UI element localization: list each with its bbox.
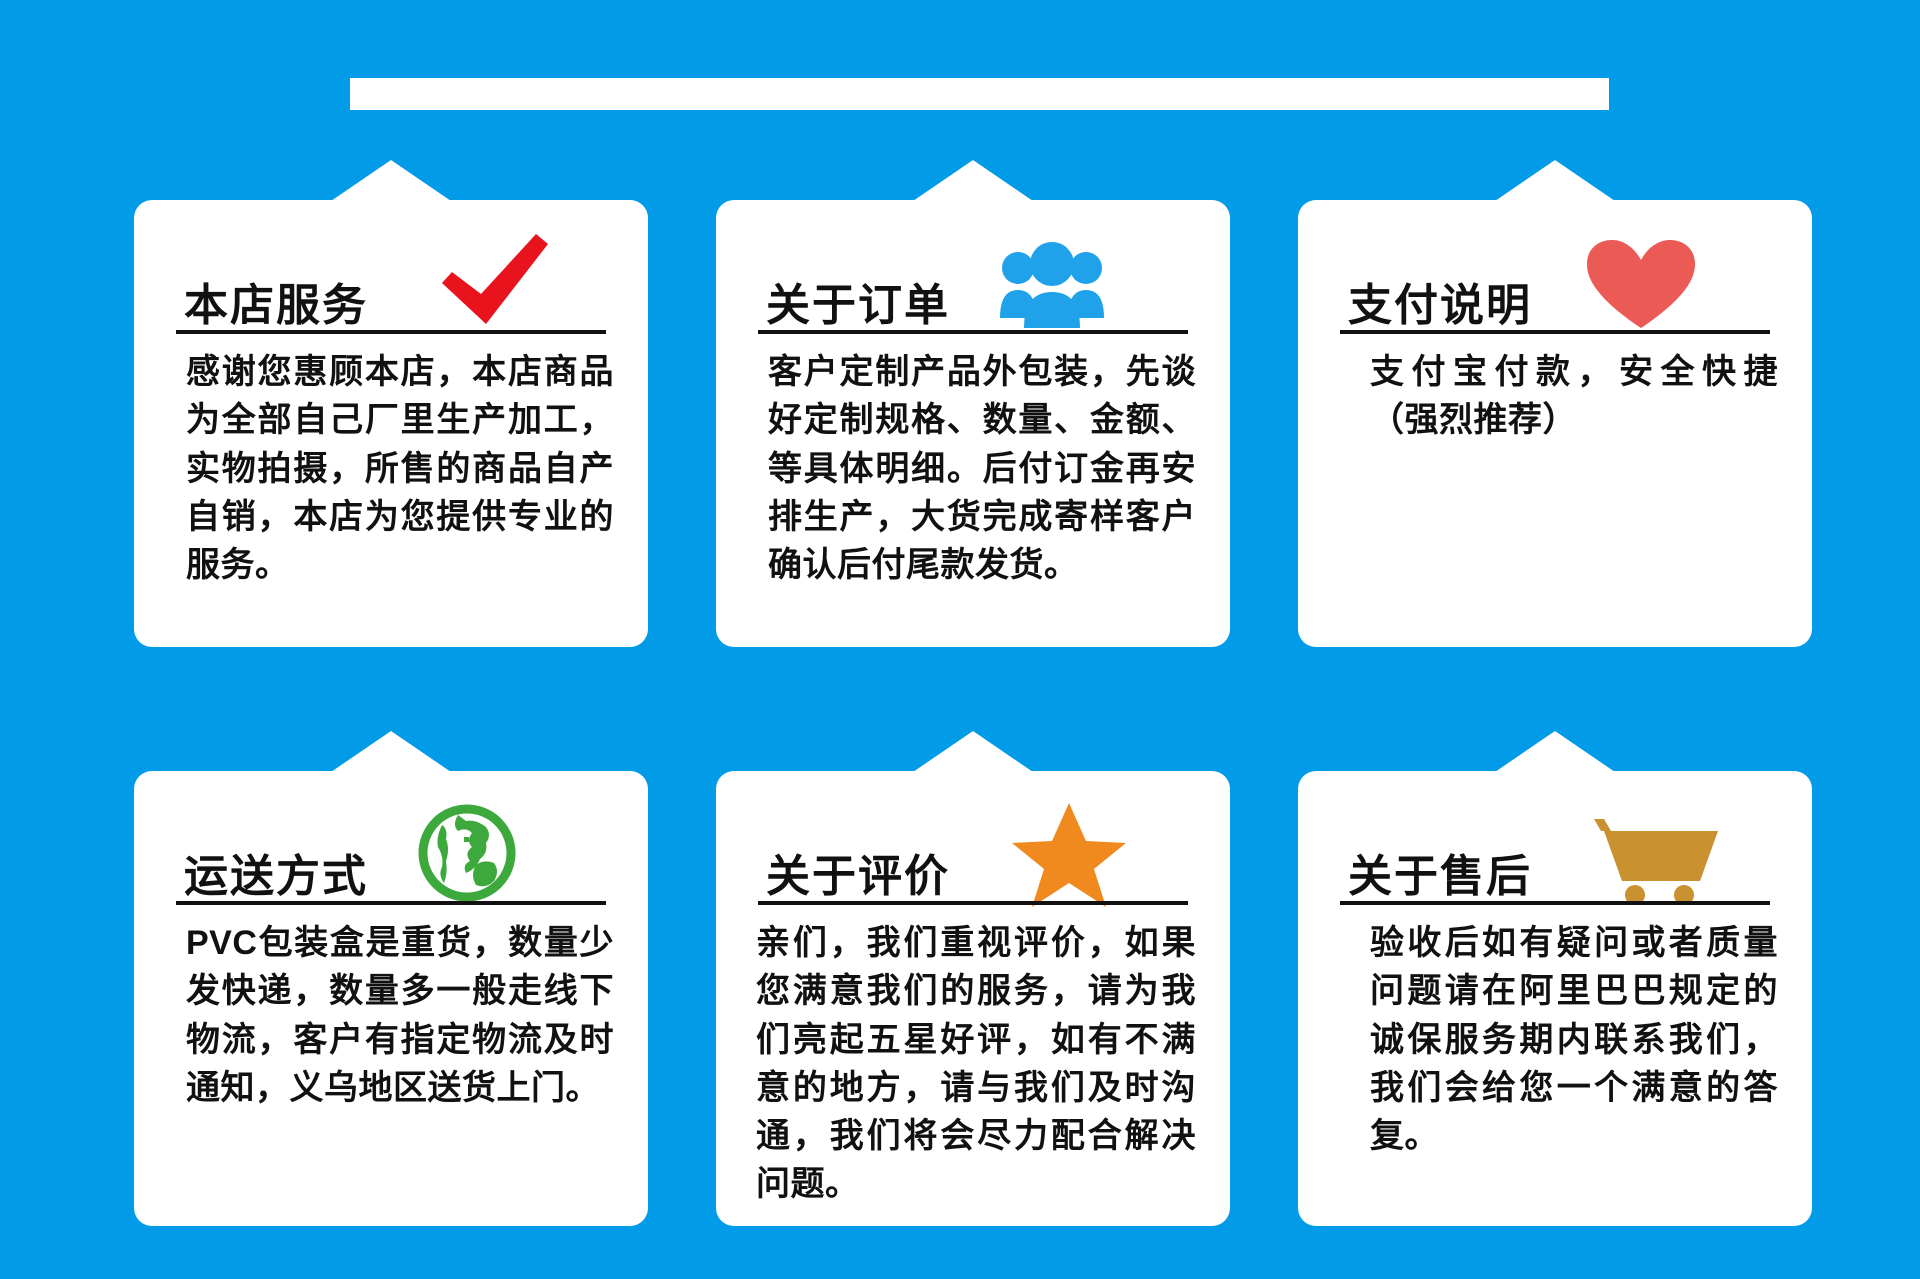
- card-header-rule: [758, 901, 1188, 905]
- card-body-text: 支付宝付款，安全快捷（强烈推荐）: [1370, 348, 1778, 445]
- card-notch-triangle: [331, 160, 451, 201]
- heart-icon: [1585, 238, 1697, 330]
- globe-icon: [414, 803, 520, 903]
- card-header: 支付说明: [1340, 238, 1770, 334]
- card-title: 关于订单: [766, 284, 950, 328]
- card-body-text: 亲们，我们重视评价，如果您满意我们的服务，请为我们亮起五星好评，如有不满意的地方…: [756, 919, 1196, 1209]
- star-icon: [1010, 801, 1128, 909]
- card-notch-triangle: [913, 160, 1033, 201]
- card-notch-triangle: [1495, 731, 1615, 772]
- card-header-rule: [176, 330, 606, 334]
- card-header-rule: [758, 330, 1188, 334]
- card-header: 关于评价: [758, 809, 1188, 905]
- card-title: 运送方式: [184, 855, 368, 899]
- card-header: 关于订单: [758, 238, 1188, 334]
- card-body-text: PVC包装盒是重货，数量少发快递，数量多一般走线下物流，客户有指定物流及时通知，…: [186, 919, 614, 1112]
- card-title: 本店服务: [184, 284, 368, 328]
- card-shipping-method: 运送方式 PVC包装盒是重货，数量少发快递，数量多一般走线下物流，客户有指定物流…: [134, 771, 648, 1226]
- card-title: 关于评价: [766, 855, 950, 899]
- card-header: 本店服务: [176, 238, 606, 334]
- card-payment-info: 支付说明 支付宝付款，安全快捷（强烈推荐）: [1298, 200, 1812, 647]
- card-header-rule: [176, 901, 606, 905]
- card-title: 支付说明: [1348, 284, 1532, 328]
- card-body-text: 客户定制产品外包装，先谈好定制规格、数量、金额、等具体明细。后付订金再安排生产，…: [768, 348, 1196, 589]
- card-notch-triangle: [913, 731, 1033, 772]
- card-title: 关于售后: [1348, 855, 1532, 899]
- people-group-icon: [998, 240, 1106, 330]
- card-about-review: 关于评价 亲们，我们重视评价，如果您满意我们的服务，请为我们亮起五星好评，如有不…: [716, 771, 1230, 1226]
- card-header: 运送方式: [176, 809, 606, 905]
- card-about-order: 关于订单 客户定制产品外包装，先谈好定制规格、数量、金额、等具体明细。后付订金再…: [716, 200, 1230, 647]
- card-body-text: 感谢您惠顾本店，本店商品为全部自己厂里生产加工，实物拍摄，所售的商品自产自销，本…: [186, 348, 614, 589]
- card-notch-triangle: [331, 731, 451, 772]
- card-header: 关于售后: [1340, 809, 1770, 905]
- card-shop-service: 本店服务 感谢您惠顾本店，本店商品为全部自己厂里生产加工，实物拍摄，所售的商品自…: [134, 200, 648, 647]
- card-after-sales: 关于售后 验收后如有疑问或者质量问题请在阿里巴巴规定的诚保服务期内联系我们，我们…: [1298, 771, 1812, 1226]
- card-header-rule: [1340, 901, 1770, 905]
- service-info-card-grid: 本店服务 感谢您惠顾本店，本店商品为全部自己厂里生产加工，实物拍摄，所售的商品自…: [0, 0, 1920, 1279]
- card-header-rule: [1340, 330, 1770, 334]
- red-check-icon: [436, 232, 554, 328]
- card-notch-triangle: [1495, 160, 1615, 201]
- card-body-text: 验收后如有疑问或者质量问题请在阿里巴巴规定的诚保服务期内联系我们，我们会给您一个…: [1370, 919, 1778, 1160]
- shopping-cart-icon: [1592, 813, 1720, 905]
